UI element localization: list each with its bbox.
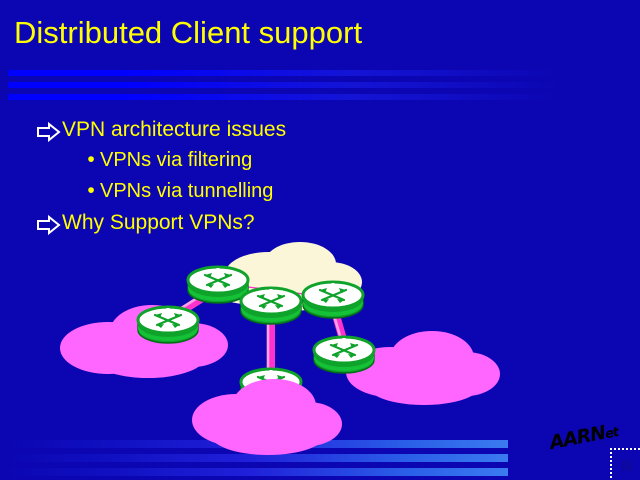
aarnet-logo-suffix: et	[604, 425, 620, 442]
router-site-east	[314, 337, 374, 373]
router-site-west	[138, 307, 198, 343]
router-backbone-right	[303, 282, 363, 318]
presentation-slide: Distributed Client support VPN architect…	[0, 0, 640, 480]
cloud-site-south	[192, 379, 342, 455]
router-backbone-center	[241, 288, 301, 324]
corner-marker-glyphs: ░░	[622, 462, 633, 472]
router-backbone-left	[188, 267, 248, 303]
vpn-network-diagram	[0, 0, 640, 480]
